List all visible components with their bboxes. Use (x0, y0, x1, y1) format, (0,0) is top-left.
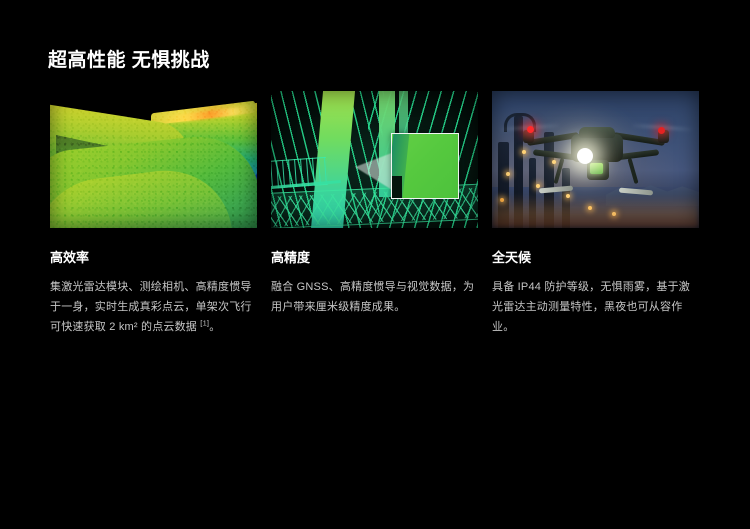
drone-landing-gear (627, 158, 638, 184)
drone-skid (618, 187, 652, 195)
feature-body-text: 具备 IP44 防护等级，无惧雨雾，基于激光雷达主动测量特性，黑夜也可从容作业。 (492, 281, 690, 334)
feature-column-efficiency: 高效率 集激光雷达模块、测绘相机、高精度惯导于一身，实时生成真彩点云，单架次飞行… (50, 91, 257, 338)
feature-body-efficiency: 集激光雷达模块、测绘相机、高精度惯导于一身，实时生成真彩点云，单架次飞行可快速获… (50, 277, 257, 338)
lidar-terrain-point-cloud-image (50, 91, 257, 228)
feature-body-text: 集激光雷达模块、测绘相机、高精度惯导于一身，实时生成真彩点云，单架次飞行可快速获… (50, 281, 252, 334)
drone-spotlight (577, 148, 593, 164)
feature-body-tail: 。 (209, 321, 220, 333)
feature-section-page: 超高性能 无惧挑战 高效率 集激光雷达模块、测绘相机、高精度惯导于一身，实时生成… (0, 0, 750, 529)
point-cloud-grain (50, 91, 257, 228)
feature-body-accuracy: 融合 GNSS、高精度惯导与视觉数据，为用户带来厘米级精度成果。 (271, 277, 478, 318)
payload-lens (590, 163, 603, 174)
feature-body-allweather: 具备 IP44 防护等级，无惧雨雾，基于激光雷达主动测量特性，黑夜也可从容作业。 (492, 277, 699, 338)
drone (521, 118, 671, 196)
drone-nav-light-red (658, 127, 665, 134)
footnote-marker: [1] (200, 319, 209, 328)
drone-landing-gear (553, 158, 564, 184)
feature-column-accuracy: 高精度 融合 GNSS、高精度惯导与视觉数据，为用户带来厘米级精度成果。 (271, 91, 478, 338)
feature-heading-efficiency: 高效率 (50, 250, 257, 266)
bridge-point-cloud-zoom-image (271, 91, 478, 228)
ground-light-haze (492, 194, 699, 228)
plant-lamp (506, 172, 510, 176)
drone-skid (538, 185, 572, 193)
drone-lidar-payload (587, 160, 609, 180)
feature-heading-allweather: 全天候 (492, 250, 699, 266)
feature-column-allweather: 全天候 具备 IP44 防护等级，无惧雨雾，基于激光雷达主动测量特性，黑夜也可从… (492, 91, 699, 338)
drone-body-top (579, 127, 615, 138)
feature-columns: 高效率 集激光雷达模块、测绘相机、高精度惯导于一身，实时生成真彩点云，单架次飞行… (50, 91, 700, 338)
drone-nav-light-red (527, 126, 534, 133)
feature-body-text: 融合 GNSS、高精度惯导与视觉数据，为用户带来厘米级精度成果。 (271, 281, 474, 313)
magnifier-callout-box (391, 133, 459, 199)
magnifier-shadow-detail (391, 176, 402, 199)
feature-heading-accuracy: 高精度 (271, 250, 478, 266)
drone-night-industrial-image (492, 91, 699, 228)
page-title: 超高性能 无惧挑战 (48, 45, 210, 72)
